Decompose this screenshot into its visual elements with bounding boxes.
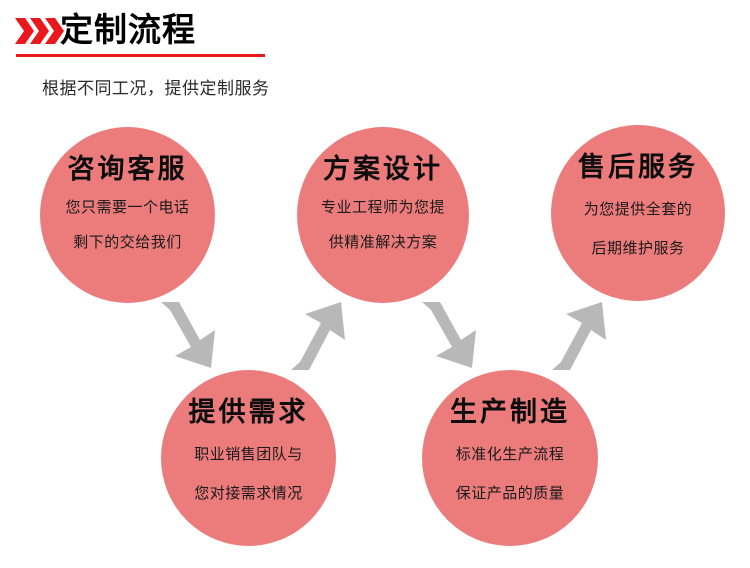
header: 定制流程 根据不同工况，提供定制服务 (0, 0, 750, 110)
flow-node-manufacture[interactable]: 生产制造 标准化生产流程 保证产品的质量 (422, 370, 598, 546)
flow-node-requirement[interactable]: 提供需求 职业销售团队与 您对接需求情况 (161, 370, 336, 546)
flow-node-desc-line2: 供精准解决方案 (329, 232, 438, 255)
arrow-up-right-icon (285, 296, 353, 377)
arrow-down-right-icon (417, 300, 485, 377)
title-underline (16, 54, 265, 57)
flow-node-title: 售后服务 (578, 151, 698, 183)
slide-canvas: 定制流程 根据不同工况，提供定制服务 咨询客服 您只需要一个电话 剩下的交给我们… (0, 0, 750, 568)
flow-node-desc-line2: 您对接需求情况 (194, 483, 303, 506)
flow-node-aftersales[interactable]: 售后服务 为您提供全套的 后期维护服务 (551, 125, 725, 301)
page-title: 定制流程 (60, 8, 196, 52)
flow-node-desc-line2: 保证产品的质量 (456, 483, 565, 506)
flow-node-desc-line1: 专业工程师为您提 (321, 197, 445, 220)
flow-node-desc-line1: 为您提供全套的 (584, 199, 693, 222)
flow-node-design[interactable]: 方案设计 专业工程师为您提 供精准解决方案 (297, 127, 469, 303)
flow-node-title: 提供需求 (189, 396, 309, 428)
flow-node-desc-line2: 后期维护服务 (591, 238, 684, 261)
double-chevron-right-icon (13, 15, 65, 47)
arrow-down-right-icon (156, 300, 224, 377)
flow-node-title: 生产制造 (450, 396, 570, 428)
flow-node-consult[interactable]: 咨询客服 您只需要一个电话 剩下的交给我们 (40, 127, 215, 303)
page-subtitle: 根据不同工况，提供定制服务 (42, 76, 270, 102)
arrow-up-right-icon (546, 296, 614, 377)
flow-node-title: 方案设计 (323, 153, 443, 185)
flow-node-desc-line2: 剩下的交给我们 (73, 232, 182, 255)
flow-node-desc-line1: 职业销售团队与 (194, 444, 303, 467)
flow-node-title: 咨询客服 (68, 153, 188, 185)
flow-node-desc-line1: 您只需要一个电话 (65, 197, 189, 220)
flow-node-desc-line1: 标准化生产流程 (456, 444, 565, 467)
